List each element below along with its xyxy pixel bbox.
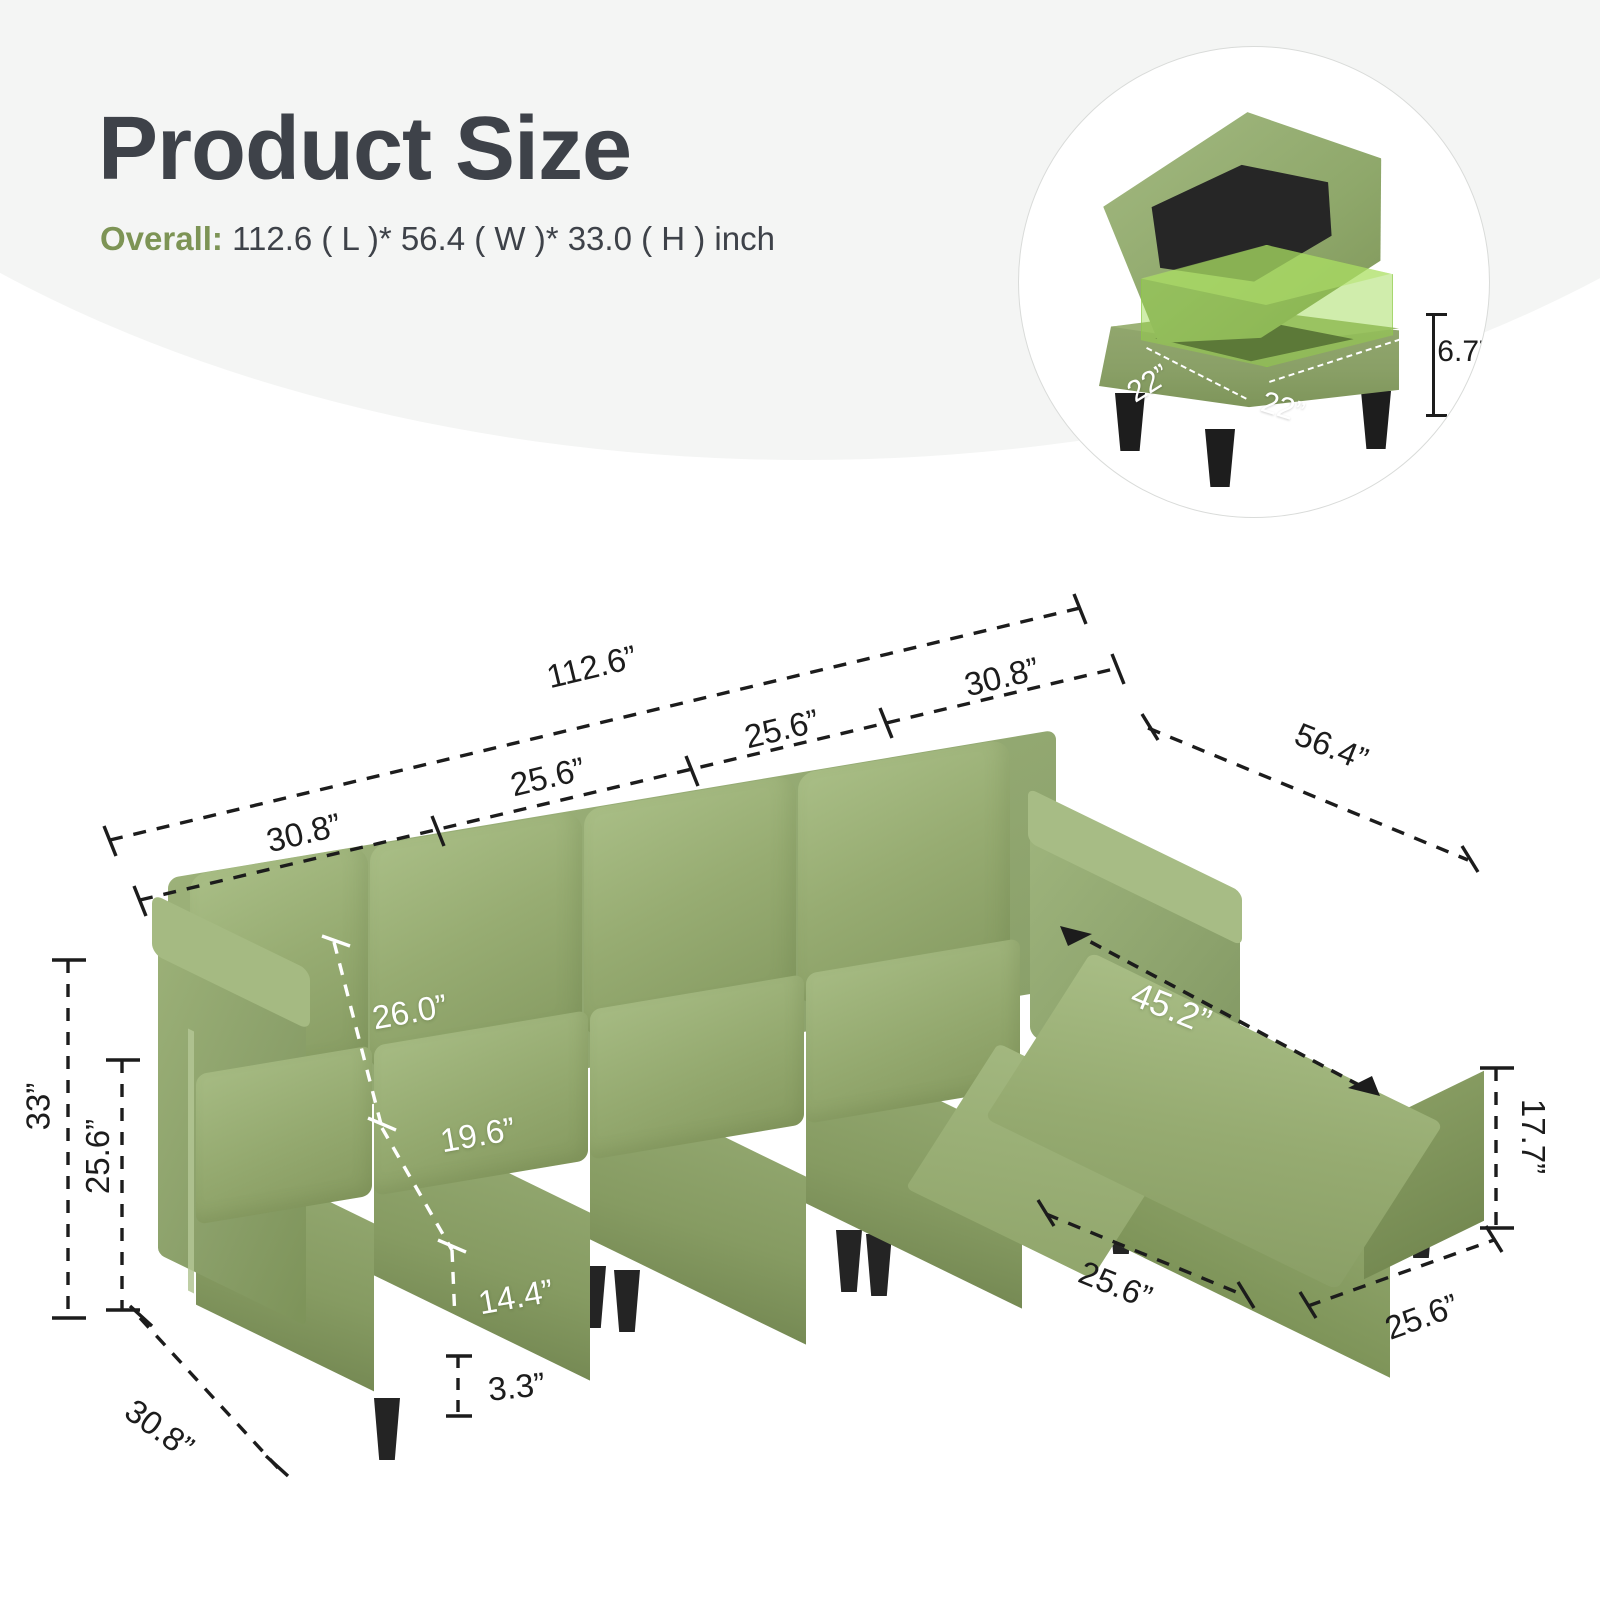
storage-height-label: 6.7” [1437,335,1489,369]
label-total-height: 33” [21,1083,54,1131]
storage-height-dimension-line [1432,313,1435,417]
sofa-leg [614,1270,640,1332]
seat-cushion [196,1045,372,1224]
label-leg-height: 3.3” [486,1367,546,1406]
product-size-infographic: Product Size Overall: 112.6 ( L )* 56.4 … [0,0,1600,1600]
ottoman-leg [1361,391,1391,449]
sofa-left-arm-piping [188,1029,194,1294]
overall-value: 112.6 ( L )* 56.4 ( W )* 33.0 ( H ) inch [232,220,775,257]
overall-size-line: Overall: 112.6 ( L )* 56.4 ( W )* 33.0 (… [100,222,775,255]
sofa-leg [836,1230,862,1292]
overall-label: Overall: [100,220,223,257]
sofa-leg [374,1398,400,1460]
label-ottoman-height: 17.7” [1517,1099,1550,1174]
ottoman-leg [1205,429,1235,487]
storage-ottoman-inset: 22” 22” 6.7” [1018,46,1490,518]
ottoman-illustration: 22” 22” 6.7” [1019,47,1489,517]
page-title: Product Size [98,104,631,194]
label-arm-height: 25.6” [81,1119,114,1194]
